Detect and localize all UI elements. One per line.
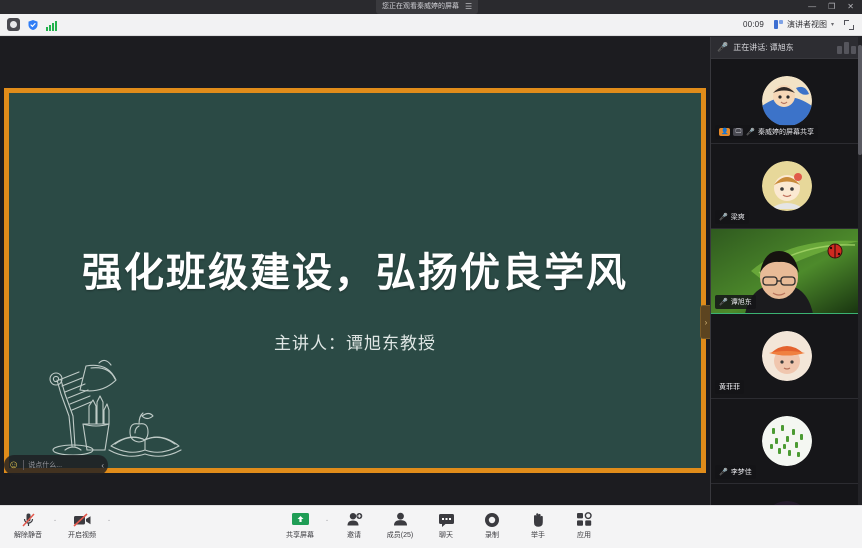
camera-off-icon bbox=[73, 511, 92, 528]
raise-hand-icon bbox=[531, 511, 545, 528]
sidebar-scrollbar[interactable] bbox=[858, 37, 862, 505]
chat-button[interactable]: 聊天 bbox=[424, 509, 468, 540]
unmute-label: 解除静音 bbox=[14, 530, 42, 540]
mic-muted-icon: 🎤 bbox=[717, 42, 728, 53]
bottom-toolbar-left: 解除静音 ＾ 开启视频 ＾ bbox=[6, 509, 112, 540]
invite-button[interactable]: 邀请 bbox=[332, 509, 376, 540]
participant-label: 黄菲菲 bbox=[715, 380, 744, 394]
avatar bbox=[762, 161, 812, 211]
participant-name: 谭旭东 bbox=[731, 297, 752, 307]
shared-screen-stage: 强化班级建设，弘扬优良学风 主讲人：谭旭东教授 bbox=[0, 37, 710, 505]
unmute-button[interactable]: 解除静音 bbox=[6, 509, 50, 540]
chevron-left-icon[interactable]: ‹ bbox=[101, 461, 104, 470]
apps-button[interactable]: 应用 bbox=[562, 509, 606, 540]
chat-icon bbox=[438, 511, 455, 528]
sidebar-scrollbar-thumb[interactable] bbox=[858, 45, 862, 155]
bullet-chat-input-widget[interactable]: ☺ 说点什么... ‹ bbox=[4, 455, 108, 475]
share-screen-label: 共享屏幕 bbox=[286, 530, 314, 540]
fullscreen-icon[interactable] bbox=[844, 20, 854, 30]
shield-icon[interactable] bbox=[26, 18, 39, 31]
host-icon: 👤 bbox=[719, 128, 730, 136]
mic-muted-icon bbox=[21, 511, 36, 528]
participant-label: 🎤 梁爽 bbox=[715, 210, 749, 224]
mic-on-icon: 🎤 bbox=[719, 298, 728, 306]
window-titlebar: 您正在观看秦威婷的屏幕 ☰ — ❐ ✕ bbox=[0, 0, 862, 14]
participant-tile[interactable]: 黄菲菲 bbox=[711, 314, 862, 399]
chat-label: 聊天 bbox=[439, 530, 453, 540]
chevron-down-icon: ▾ bbox=[831, 21, 834, 28]
share-screen-button[interactable]: 共享屏幕 bbox=[278, 509, 322, 540]
meeting-timer: 00:09 bbox=[743, 20, 764, 29]
share-options-caret[interactable]: ＾ bbox=[324, 509, 330, 528]
info-circle-icon[interactable] bbox=[7, 18, 20, 31]
raise-hand-button[interactable]: 举手 bbox=[516, 509, 560, 540]
view-mode-selector[interactable]: 演讲者视图 ▾ bbox=[774, 19, 834, 30]
record-label: 录制 bbox=[485, 530, 499, 540]
invite-user-icon bbox=[346, 511, 363, 528]
minimize-button[interactable]: — bbox=[808, 0, 816, 14]
audio-wave-icon bbox=[837, 42, 856, 54]
apps-grid-icon bbox=[576, 511, 592, 528]
participants-sidebar: 🎤 正在讲话: 谭旭东 bbox=[710, 37, 862, 505]
apps-label: 应用 bbox=[577, 530, 591, 540]
bullet-chat-input[interactable]: 说点什么... bbox=[28, 460, 97, 470]
participants-button[interactable]: 成员(25) bbox=[378, 509, 422, 540]
avatar bbox=[762, 331, 812, 381]
participants-label: 成员(25) bbox=[387, 530, 413, 540]
participants-icon bbox=[392, 511, 409, 528]
zoom-meeting-window: 您正在观看秦威婷的屏幕 ☰ — ❐ ✕ 00:09 演讲者视图 ▾ bbox=[0, 0, 862, 548]
top-toolbar-right-controls: 00:09 演讲者视图 ▾ bbox=[743, 19, 862, 30]
video-options-caret[interactable]: ＾ bbox=[106, 509, 112, 528]
meeting-bottom-toolbar: 解除静音 ＾ 开启视频 ＾ 共享屏幕 ＾ bbox=[0, 505, 862, 548]
screen-share-notice: 您正在观看秦威婷的屏幕 ☰ bbox=[376, 0, 478, 14]
mic-muted-icon: 🎤 bbox=[719, 468, 728, 476]
screen-share-notice-text: 您正在观看秦威婷的屏幕 bbox=[382, 0, 459, 14]
participant-name: 秦威婷的屏幕共享 bbox=[758, 127, 814, 137]
screen-share-icon bbox=[291, 511, 310, 528]
top-toolbar-left-icons bbox=[0, 18, 58, 31]
close-button[interactable]: ✕ bbox=[847, 0, 854, 14]
avatar bbox=[762, 416, 812, 466]
participant-name: 黄菲菲 bbox=[719, 382, 740, 392]
active-speaker-label: 正在讲话: 谭旭东 bbox=[733, 42, 793, 53]
divider bbox=[23, 460, 24, 470]
participant-tile[interactable]: 👤 🖵 🎤 秦威婷的屏幕共享 bbox=[711, 59, 862, 144]
network-signal-icon[interactable] bbox=[45, 18, 58, 31]
view-mode-label: 演讲者视图 bbox=[787, 19, 827, 30]
participant-tile[interactable]: 🎤 谭旭东 bbox=[711, 229, 862, 314]
bottom-toolbar-center: 共享屏幕 ＾ 邀请 成员(25) 聊天 bbox=[278, 509, 606, 540]
screen-share-icon: 🖵 bbox=[733, 128, 743, 136]
presentation-slide: 强化班级建设，弘扬优良学风 主讲人：谭旭东教授 bbox=[9, 93, 701, 468]
menu-lines-icon[interactable]: ☰ bbox=[465, 0, 472, 14]
slide-subtitle: 主讲人：谭旭东教授 bbox=[9, 329, 701, 354]
record-button[interactable]: 录制 bbox=[470, 509, 514, 540]
mic-muted-icon: 🎤 bbox=[746, 128, 755, 136]
invite-label: 邀请 bbox=[347, 530, 361, 540]
record-icon bbox=[484, 511, 500, 528]
smiley-icon[interactable]: ☺ bbox=[8, 460, 19, 471]
start-video-button[interactable]: 开启视频 bbox=[60, 509, 104, 540]
maximize-button[interactable]: ❐ bbox=[828, 0, 835, 14]
participant-tile[interactable]: 名家 bbox=[711, 484, 862, 505]
slide-title: 强化班级建设，弘扬优良学风 bbox=[9, 240, 701, 298]
raise-hand-label: 举手 bbox=[531, 530, 545, 540]
active-speaker-bar: 🎤 正在讲话: 谭旭东 bbox=[711, 37, 862, 59]
window-controls: — ❐ ✕ bbox=[808, 0, 858, 14]
participant-tile[interactable]: 🎤 梁爽 bbox=[711, 144, 862, 229]
avatar bbox=[762, 76, 812, 126]
participant-name: 李梦佳 bbox=[731, 467, 752, 477]
participant-tile-list[interactable]: 👤 🖵 🎤 秦威婷的屏幕共享 bbox=[711, 59, 862, 505]
participant-label: 👤 🖵 🎤 秦威婷的屏幕共享 bbox=[715, 125, 818, 139]
meeting-top-toolbar: 00:09 演讲者视图 ▾ bbox=[0, 14, 862, 36]
mic-muted-icon: 🎤 bbox=[719, 213, 728, 221]
collapse-sidebar-handle[interactable]: › bbox=[700, 305, 710, 339]
participant-label: 🎤 谭旭东 bbox=[715, 295, 756, 309]
start-video-label: 开启视频 bbox=[68, 530, 96, 540]
chalk-desk-illustration bbox=[39, 354, 219, 464]
speaker-view-icon bbox=[774, 20, 783, 29]
participant-label: 🎤 李梦佳 bbox=[715, 465, 756, 479]
presentation-slide-frame: 强化班级建设，弘扬优良学风 主讲人：谭旭东教授 bbox=[4, 88, 706, 473]
participant-tile[interactable]: 🎤 李梦佳 bbox=[711, 399, 862, 484]
mic-options-caret[interactable]: ＾ bbox=[52, 509, 58, 528]
participant-name: 梁爽 bbox=[731, 212, 745, 222]
